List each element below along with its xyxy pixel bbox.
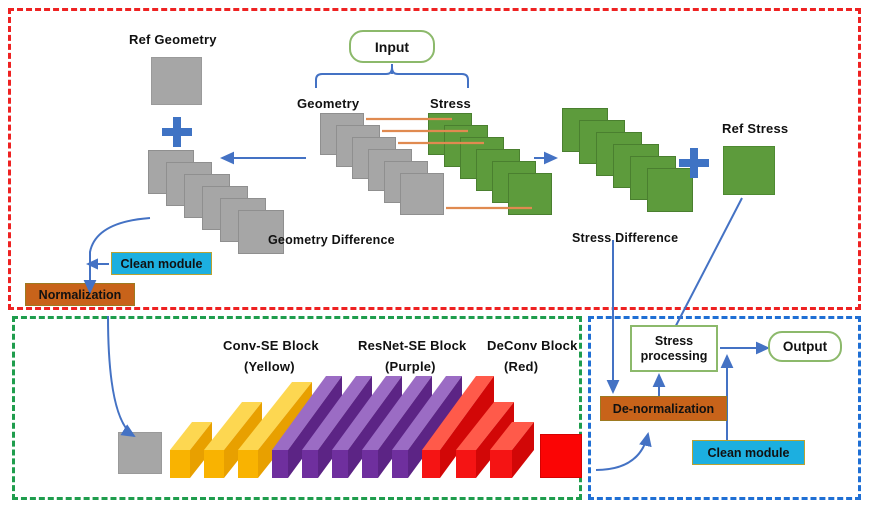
legend-deconv-color: (Red) [504,359,538,374]
stress-difference-stack [562,108,692,218]
label-stress-difference: Stress Difference [572,231,678,245]
clean-module-top[interactable]: Clean module [111,252,212,275]
network-input-square [118,432,162,474]
plus-icon-stress [679,148,709,178]
legend-resnet-se-name: ResNet-SE Block [358,338,466,353]
legend-conv-se-name: Conv-SE Block [223,338,319,353]
network-output-square [540,434,582,478]
ref-geometry-square [151,57,202,105]
label-ref-geometry: Ref Geometry [129,32,217,47]
diagram-canvas: Ref Geometry Geometry Difference Input G… [0,0,869,508]
normalization-box[interactable]: Normalization [25,283,135,306]
node-output[interactable]: Output [768,331,842,362]
label-geometry: Geometry [297,96,359,111]
label-stress: Stress [430,96,471,111]
label-ref-stress: Ref Stress [722,121,788,136]
label-geometry-difference: Geometry Difference [268,233,395,247]
geometry-difference-stack [148,150,288,250]
stress-processing-line-1: Stress [655,334,693,348]
legend-conv-se-color: (Yellow) [244,359,295,374]
clean-module-bottom[interactable]: Clean module [692,440,805,465]
node-input[interactable]: Input [349,30,435,63]
legend-deconv-name: DeConv Block [487,338,578,353]
legend-resnet-se-color: (Purple) [385,359,436,374]
ref-stress-square [723,146,775,195]
node-stress-processing[interactable]: Stress processing [630,325,718,372]
denormalization-box[interactable]: De-normalization [600,396,727,421]
stress-processing-line-2: processing [641,349,708,363]
stress-input-stack [428,113,558,218]
plus-icon-geometry [162,117,192,147]
